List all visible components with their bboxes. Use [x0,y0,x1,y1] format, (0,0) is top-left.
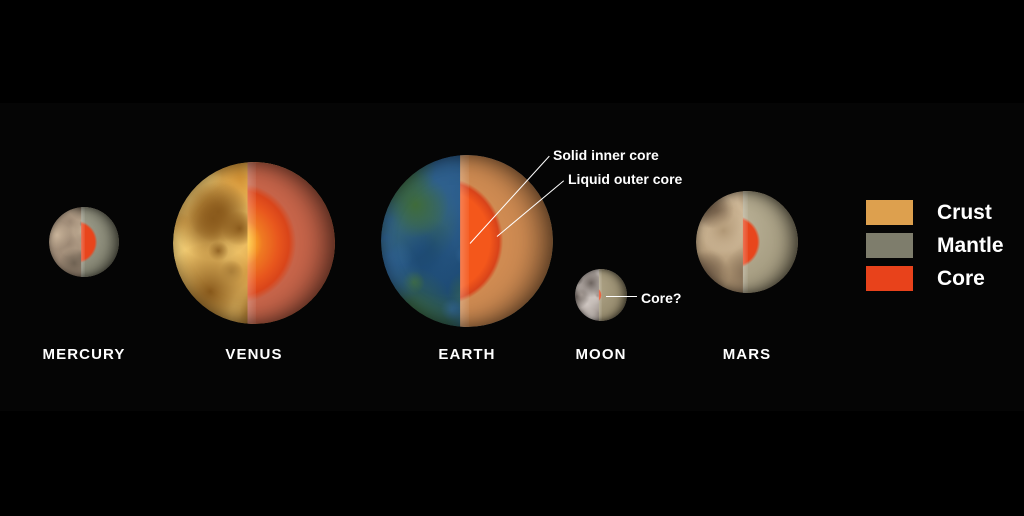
legend-swatch-core [866,266,913,291]
callout-liquid-outer-core: Liquid outer core [568,171,682,187]
legend-label-mantle: Mantle [937,234,1004,258]
moon-sphere [575,269,627,321]
legend-label-core: Core [937,267,985,291]
callout-moon-core: Core? [641,290,681,306]
mars-sphere [696,191,798,293]
legend-item-crust: Crust [866,200,1004,225]
legend-swatch-crust [866,200,913,225]
mercury-sphere [49,207,119,277]
leader-line-moon-core [606,296,637,297]
legend-item-mantle: Mantle [866,233,1004,258]
planetary-interiors-diagram: MERCURY VENUS EARTH MOON MARS [0,0,1024,516]
legend: Crust Mantle Core [866,200,1004,299]
legend-swatch-mantle [866,233,913,258]
callout-solid-inner-core: Solid inner core [553,147,659,163]
legend-label-crust: Crust [937,201,992,225]
legend-item-core: Core [866,266,1004,291]
label-mars: MARS [637,346,857,363]
label-venus: VENUS [144,346,364,363]
venus-sphere [173,162,335,324]
